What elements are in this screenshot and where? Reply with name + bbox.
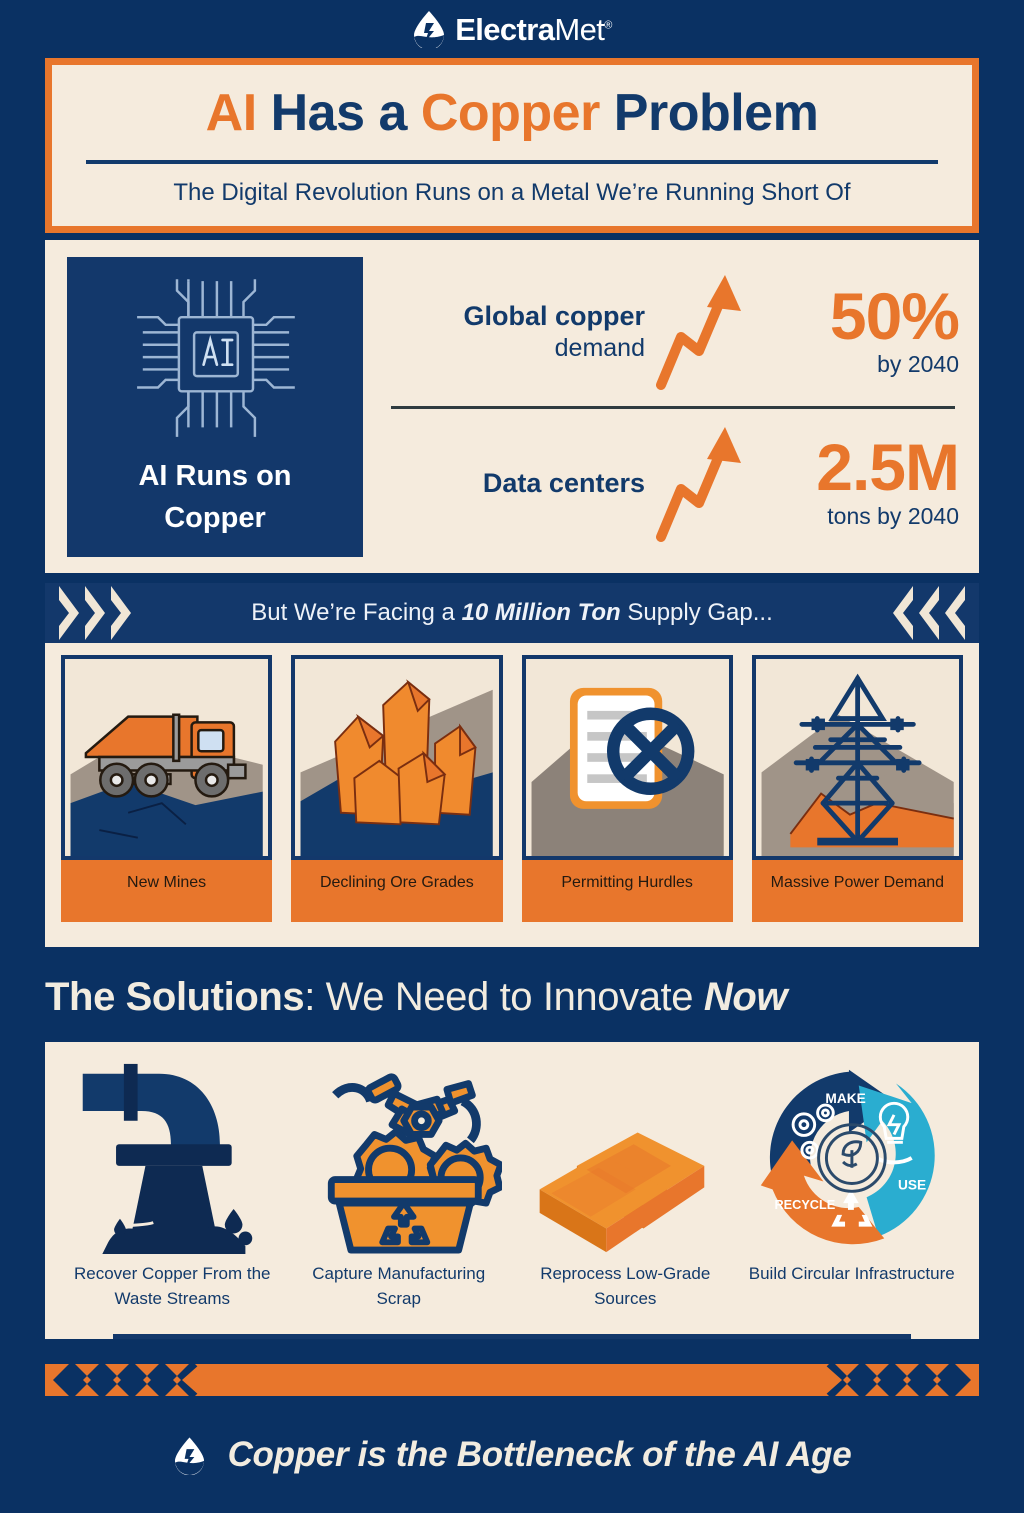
ai-box-label: AI Runs onCopper [138,455,291,539]
gap-text-before: But We’re Facing a [251,599,461,626]
brand-name: ElectraMet® [455,14,612,45]
supply-gap-text: But We’re Facing a 10 Million Ton Supply… [251,599,773,628]
growth-arrow-icon [651,271,747,391]
droplet-logo-icon [173,1435,206,1475]
solutions-row: Recover Copper From the Waste Streams [59,1060,965,1311]
stat-value-data-centers: 2.5M tons by 2040 [747,436,959,530]
challenge-card-permitting[interactable]: Permitting Hurdles [522,655,733,922]
stat-label-bold-0: Global copper [387,300,645,333]
circular-label-recycle: RECYCLE [774,1197,835,1212]
brand-name-bold: Electra [455,12,554,47]
stat-number-0: 50% [749,285,959,348]
ai-chip-icon [120,273,310,445]
solution-art [286,1060,513,1256]
stat-row-copper-demand: Global copper demand 50% by 2040 [387,257,959,406]
title-ai: AI [206,84,271,142]
growth-arrow-icon [651,423,747,543]
stat-label-copper-demand: Global copper demand [387,300,651,363]
solution-label: Capture Manufacturing Scrap [286,1256,513,1311]
solutions-heading-now: Now [704,975,787,1019]
card-art [61,655,272,860]
arrow-bar-graphic [45,1363,979,1397]
stat-number-1: 2.5M [749,436,959,499]
chevron-icon [915,584,941,642]
solutions-heading: The Solutions: We Need to Innovate Now [45,975,979,1020]
card-label: New Mines [61,860,272,922]
stat-label-bold-1: Data centers [387,467,645,500]
solution-art: MAKE USE RECYCLE [739,1060,966,1256]
droplet-logo-icon [412,10,446,48]
title-problem: Problem [614,84,819,142]
stat-sub-0: by 2040 [749,351,959,378]
chevron-icon [889,584,915,642]
brand-name-light: Met [554,12,604,47]
solutions-divider [113,1334,911,1339]
solutions-heading-bold: The Solutions [45,975,304,1019]
arrow-bar [45,1363,979,1397]
stat-value-copper-demand: 50% by 2040 [747,285,959,379]
solution-art [59,1060,286,1256]
power-pylon-icon [756,659,959,856]
challenge-card-ore-grades[interactable]: Declining Ore Grades [291,655,502,922]
solution-label: Recover Copper From the Waste Streams [59,1256,286,1311]
challenge-cards: New Mines Declining O [45,643,979,947]
chevron-group-left [57,583,135,643]
footer-tagline: Copper is the Bottleneck of the AI Age [228,1435,852,1475]
chevron-icon [83,584,109,642]
page-subtitle: The Digital Revolution Runs on a Metal W… [80,178,944,208]
card-label: Permitting Hurdles [522,860,733,922]
waste-pipe-icon [69,1060,275,1256]
ai-runs-on-copper-box: AI Runs onCopper [67,257,363,557]
title-hasa: Has a [271,84,421,142]
solution-label: Reprocess Low-Grade Sources [512,1256,739,1311]
solution-item-circular[interactable]: MAKE USE RECYCLE Build Circular Infrastr… [739,1060,966,1311]
stats-panel: AI Runs onCopper Global copper demand 50… [45,240,979,573]
solution-item-reprocess[interactable]: Reprocess Low-Grade Sources [512,1060,739,1311]
page-title: AI Has a Copper Problem [80,85,944,142]
gap-text-emphasis: 10 Million Ton [462,599,621,626]
title-copper: Copper [421,84,614,142]
stat-sub-1: tons by 2040 [749,503,959,530]
card-art [752,655,963,860]
chevron-icon [109,584,135,642]
card-art [291,655,502,860]
circular-label-make: MAKE [825,1091,865,1106]
card-label: Declining Ore Grades [291,860,502,922]
ai-box-label-l1: AI Runs on [138,460,291,492]
challenge-card-new-mines[interactable]: New Mines [61,655,272,922]
title-card: AI Has a Copper Problem The Digital Revo… [45,58,979,233]
title-divider [86,160,938,164]
stat-label-regular-0: demand [387,333,645,364]
chevron-icon [941,584,967,642]
blocked-document-icon [526,659,729,856]
solutions-heading-middle: : We Need to Innovate [304,975,704,1019]
registered-mark: ® [604,19,612,31]
card-label: Massive Power Demand [752,860,963,922]
circular-label-use: USE [898,1178,926,1193]
stats-column: Global copper demand 50% by 2040 Data ce… [387,257,959,557]
footer-banner: Copper is the Bottleneck of the AI Age [0,1419,1024,1491]
solution-art [512,1060,739,1256]
ai-box-label-l2: Copper [164,502,266,534]
copper-ingots-icon [522,1060,728,1256]
gap-text-after: Supply Gap... [621,599,773,626]
challenge-card-power-demand[interactable]: Massive Power Demand [752,655,963,922]
stat-label-data-centers: Data centers [387,467,651,500]
solution-label: Build Circular Infrastructure [743,1256,961,1287]
solutions-panel: Recover Copper From the Waste Streams [45,1042,979,1338]
circular-economy-icon: MAKE USE RECYCLE [749,1060,955,1256]
ore-crystals-icon [295,659,498,856]
stat-row-data-centers: Data centers 2.5M tons by 2040 [387,409,959,558]
card-art [522,655,733,860]
solution-item-recover-copper[interactable]: Recover Copper From the Waste Streams [59,1060,286,1311]
brand-logo-bar: ElectraMet® [0,0,1024,58]
chevron-icon [57,584,83,642]
dump-truck-icon [65,659,268,856]
solution-item-capture-scrap[interactable]: Capture Manufacturing Scrap [286,1060,513,1311]
chevron-group-right [889,583,967,643]
supply-gap-banner: But We’re Facing a 10 Million Ton Supply… [45,583,979,643]
scrap-bin-icon [296,1060,502,1256]
